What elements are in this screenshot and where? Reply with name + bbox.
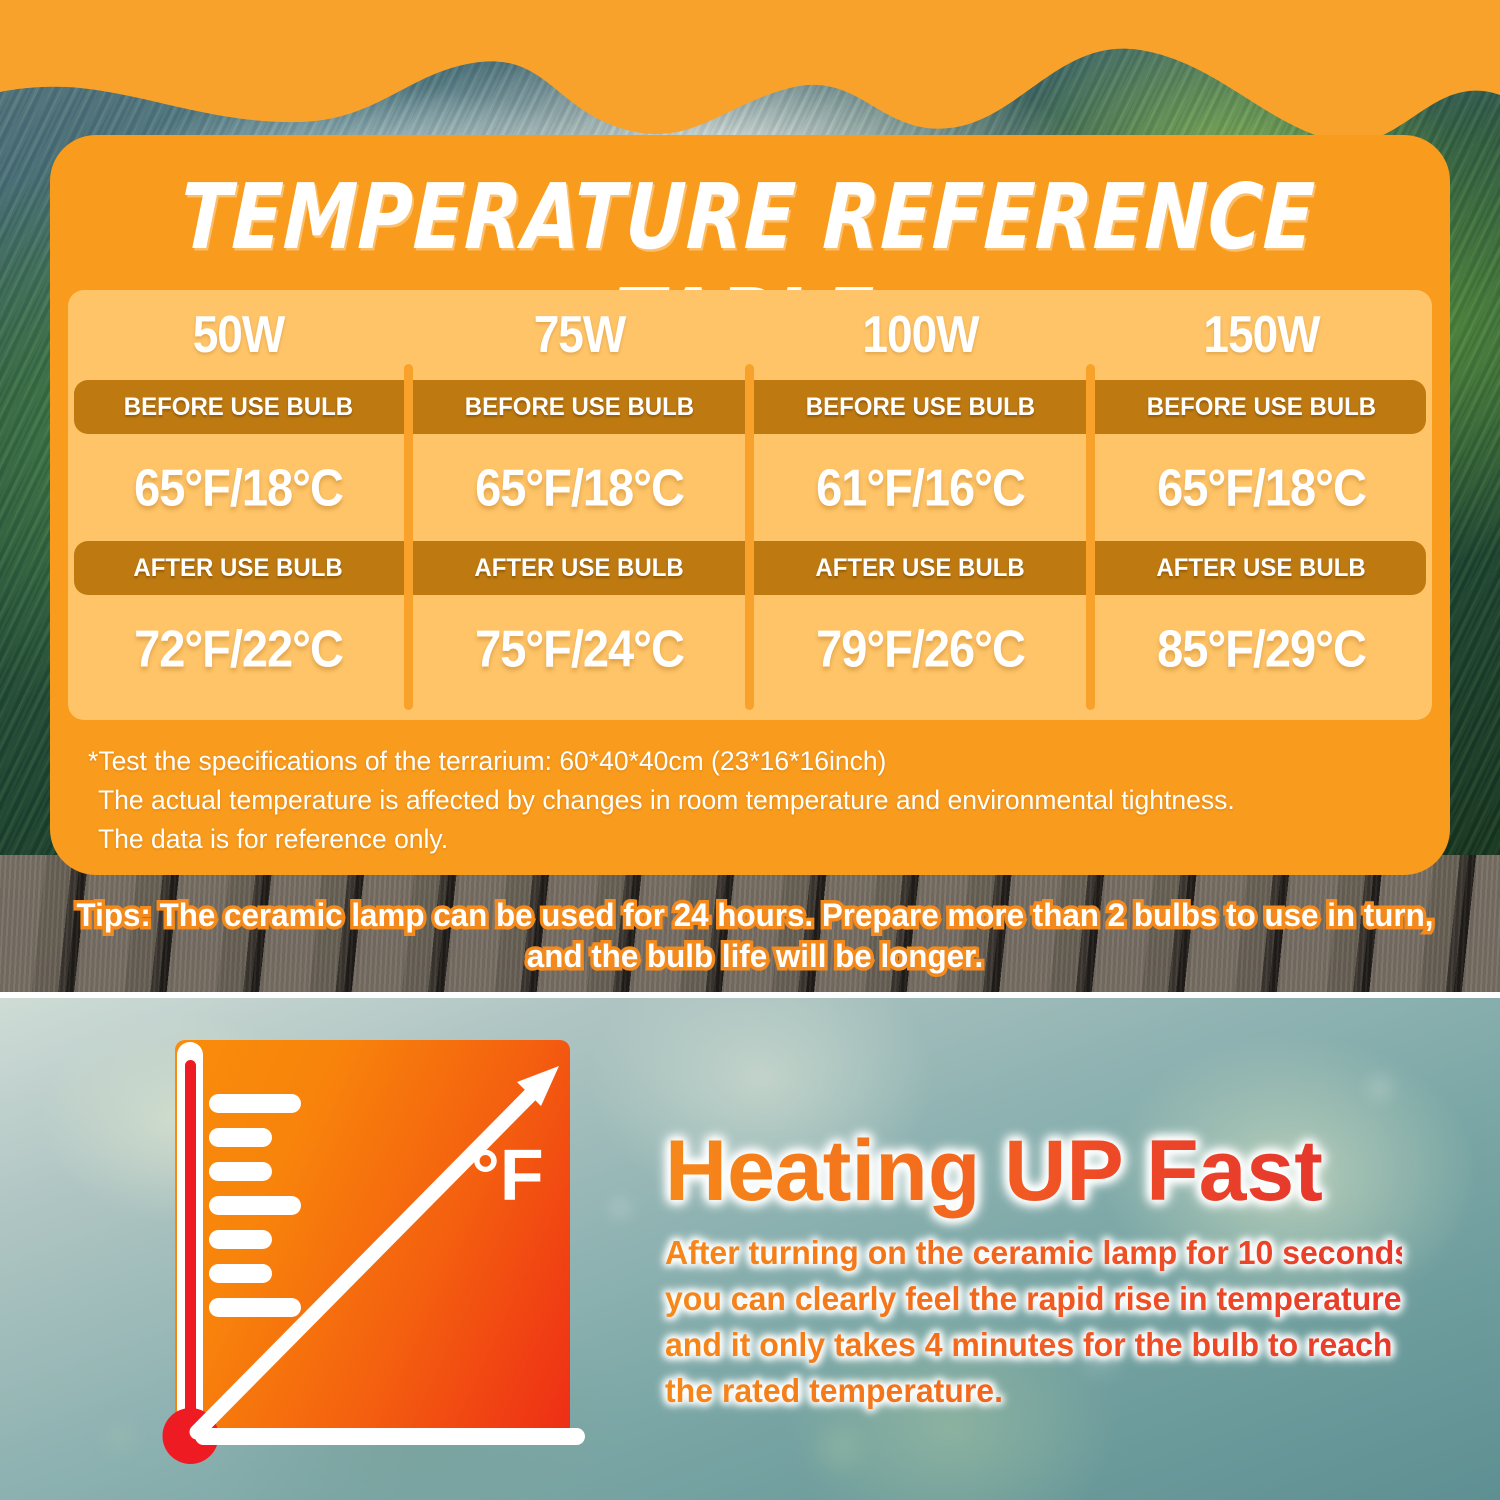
before-temperature-value: 65°F/18°C: [134, 457, 343, 518]
tips-line-2: and the bulb life will be longer.: [64, 936, 1446, 977]
table-cell-before-label: BEFORE USE BULB: [409, 378, 750, 436]
fahrenheit-unit-label: °F: [471, 1136, 544, 1216]
before-use-bulb-label: BEFORE USE BULB: [1147, 393, 1376, 422]
before-temperature-value: 65°F/18°C: [475, 457, 684, 518]
table-cell-wattage: 100W: [750, 290, 1091, 378]
table-cell-before-value: 65°F/18°C: [68, 436, 409, 539]
table-cell-before-value: 61°F/16°C: [750, 436, 1091, 539]
after-temperature-value: 72°F/22°C: [134, 618, 343, 679]
temperature-card: TEMPERATURE REFERENCE TABLE 50W 75W 100W…: [50, 135, 1450, 875]
table-cell-wattage: 150W: [1091, 290, 1432, 378]
before-use-bulb-label: BEFORE USE BULB: [465, 393, 694, 422]
after-use-bulb-label: AFTER USE BULB: [475, 554, 684, 583]
wattage-label: 150W: [1203, 304, 1319, 364]
disclaimer-line-3: The data is for reference only.: [88, 820, 1428, 859]
table-cell-before-value: 65°F/18°C: [409, 436, 750, 539]
before-temperature-value: 65°F/18°C: [1157, 457, 1366, 518]
table-cell-after-label: AFTER USE BULB: [750, 539, 1091, 597]
table-cell-after-value: 75°F/24°C: [409, 597, 750, 700]
wattage-label: 50W: [193, 304, 285, 364]
disclaimer-note: *Test the specifications of the terrariu…: [88, 742, 1428, 859]
table-cell-before-label: BEFORE USE BULB: [1091, 378, 1432, 436]
table-cell-wattage: 50W: [68, 290, 409, 378]
table-cell-before-label: BEFORE USE BULB: [750, 378, 1091, 436]
table-cell-after-value: 85°F/29°C: [1091, 597, 1432, 700]
table-cell-before-value: 65°F/18°C: [1091, 436, 1432, 539]
table-cell-after-value: 72°F/22°C: [68, 597, 409, 700]
after-use-bulb-label: AFTER USE BULB: [1157, 554, 1366, 583]
table-cell-after-value: 79°F/26°C: [750, 597, 1091, 700]
before-temperature-value: 61°F/16°C: [816, 457, 1025, 518]
table-cell-wattage: 75W: [409, 290, 750, 378]
body-line-1: After turning on the ceramic lamp for 10…: [665, 1230, 1402, 1276]
table-grid: 50W 75W 100W 150W BEFORE USE BULB BEFORE…: [68, 290, 1432, 720]
thermometer-chart-icon: °F: [175, 1040, 570, 1438]
table-cell-after-label: AFTER USE BULB: [409, 539, 750, 597]
table-cell-after-label: AFTER USE BULB: [1091, 539, 1432, 597]
body-line-3: and it only takes 4 minutes for the bulb…: [665, 1322, 1402, 1368]
disclaimer-line-1: *Test the specifications of the terrariu…: [88, 742, 1428, 781]
disclaimer-line-2: The actual temperature is affected by ch…: [88, 781, 1428, 820]
infographic-page: TEMPERATURE REFERENCE TABLE 50W 75W 100W…: [0, 0, 1500, 1500]
tips-text: Tips: The ceramic lamp can be used for 2…: [64, 895, 1446, 977]
before-use-bulb-label: BEFORE USE BULB: [124, 393, 353, 422]
body-line-2: you can clearly feel the rapid rise in t…: [665, 1276, 1402, 1322]
body-line-4: the rated temperature.: [665, 1368, 1402, 1414]
bottom-section: °F Heating UP Fast After turning on the …: [0, 998, 1500, 1500]
after-use-bulb-label: AFTER USE BULB: [816, 554, 1025, 583]
bottom-heading: Heating UP Fast: [665, 1123, 1323, 1219]
table-cell-before-label: BEFORE USE BULB: [68, 378, 409, 436]
after-temperature-value: 75°F/24°C: [475, 618, 684, 679]
bottom-body-copy: After turning on the ceramic lamp for 10…: [665, 1230, 1402, 1414]
after-temperature-value: 79°F/26°C: [816, 618, 1025, 679]
table-cell-after-label: AFTER USE BULB: [68, 539, 409, 597]
after-use-bulb-label: AFTER USE BULB: [134, 554, 343, 583]
wattage-label: 100W: [862, 304, 978, 364]
before-use-bulb-label: BEFORE USE BULB: [806, 393, 1035, 422]
temperature-table: 50W 75W 100W 150W BEFORE USE BULB BEFORE…: [68, 290, 1432, 720]
top-section: TEMPERATURE REFERENCE TABLE 50W 75W 100W…: [0, 0, 1500, 995]
tips-line-1: Tips: The ceramic lamp can be used for 2…: [64, 895, 1446, 936]
after-temperature-value: 85°F/29°C: [1157, 618, 1366, 679]
wattage-label: 75W: [534, 304, 626, 364]
